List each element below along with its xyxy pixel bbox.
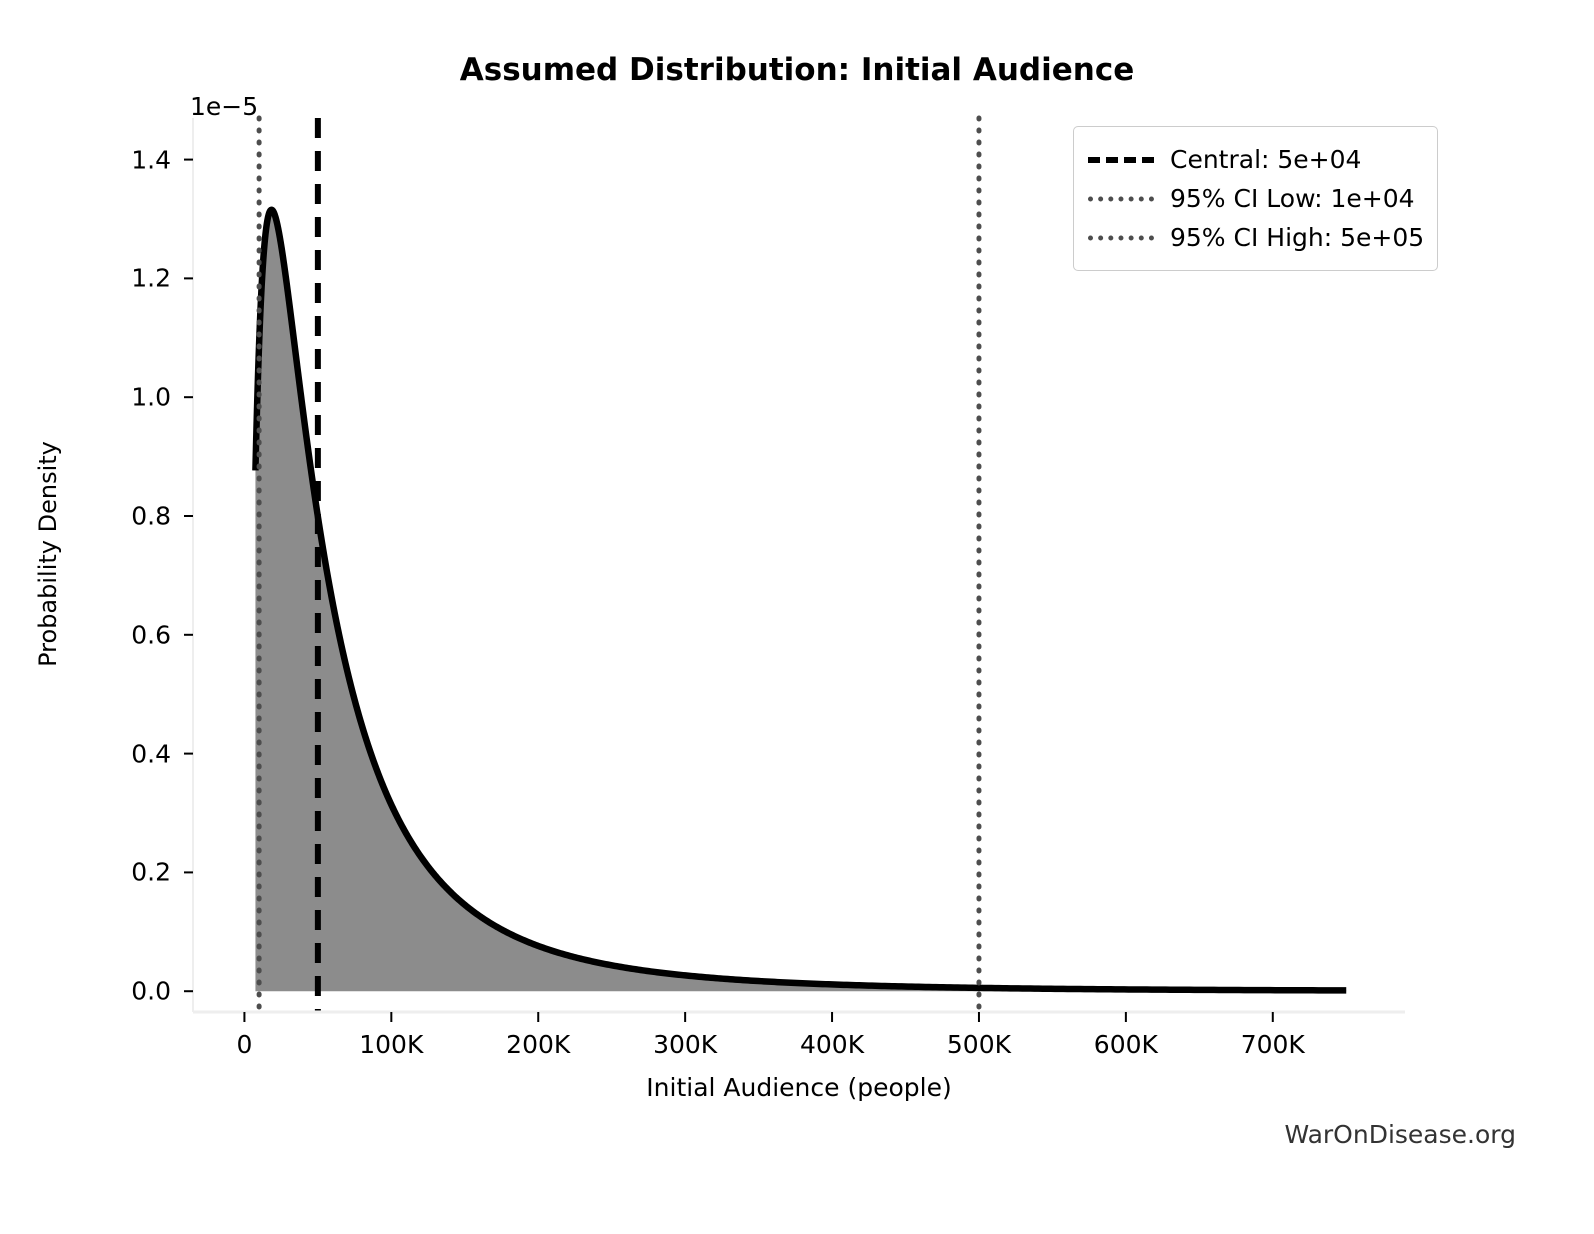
legend-label: 95% CI Low: 1e+04 — [1170, 184, 1415, 213]
legend-label: 95% CI High: 5e+05 — [1170, 223, 1424, 252]
x-tick-label: 100K — [321, 1030, 461, 1059]
x-tick-label: 700K — [1203, 1030, 1343, 1059]
chart-legend[interactable]: Central: 5e+04 95% CI Low: 1e+04 95% CI … — [1073, 126, 1438, 271]
legend-swatch-dotted-icon — [1088, 228, 1154, 248]
legend-item: 95% CI Low: 1e+04 — [1088, 179, 1423, 218]
watermark: WarOnDisease.org — [1284, 1120, 1516, 1149]
legend-item: Central: 5e+04 — [1088, 140, 1423, 179]
legend-swatch-dotted-icon — [1088, 189, 1154, 209]
legend-swatch-dashed-icon — [1088, 150, 1154, 170]
legend-label: Central: 5e+04 — [1170, 145, 1361, 174]
x-tick-label: 600K — [1056, 1030, 1196, 1059]
x-tick-label: 400K — [762, 1030, 902, 1059]
chart-figure: Assumed Distribution: Initial Audience 1… — [0, 0, 1594, 1234]
x-tick-label: 0 — [174, 1030, 314, 1059]
legend-item: 95% CI High: 5e+05 — [1088, 218, 1423, 257]
x-tick-label: 200K — [468, 1030, 608, 1059]
x-tick-label: 500K — [909, 1030, 1049, 1059]
x-axis-label: Initial Audience (people) — [193, 1073, 1405, 1102]
x-tick-label: 300K — [615, 1030, 755, 1059]
